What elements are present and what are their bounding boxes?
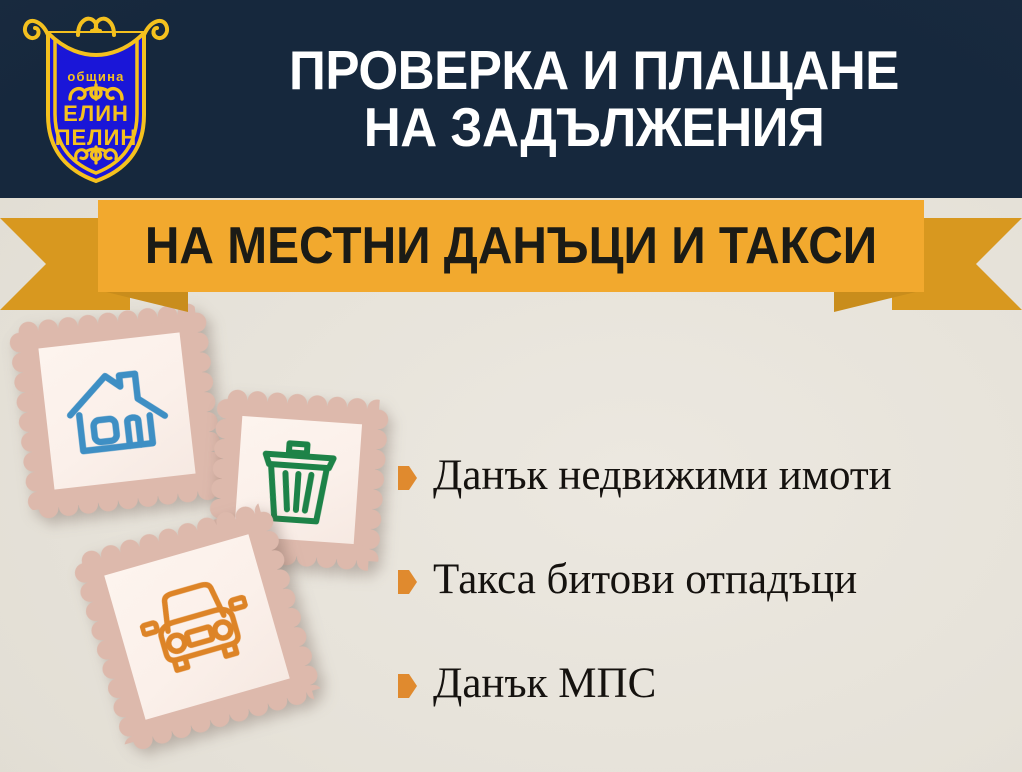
list-item-label: Данък недвижими имоти [433,453,892,498]
coat-of-arms-icon: община ЕЛИН ПЕЛИН [20,11,172,187]
subtitle-ribbon: НА МЕСТНИ ДАНЪЦИ И ТАКСИ [0,198,1022,316]
list-item[interactable]: Данък МПС [398,632,1010,736]
poster-canvas: община ЕЛИН ПЕЛИН [0,0,1022,772]
arrow-bullet-icon [398,466,417,490]
list-item-label: Такса битови отпадъци [433,557,857,602]
list-item-label: Данък МПС [433,661,656,706]
stamp-face-property [38,332,195,489]
header-bar: община ЕЛИН ПЕЛИН [0,0,1022,198]
header-title: ПРОВЕРКА И ПЛАЩАНЕ НА ЗАДЪЛЖЕНИЯ [192,42,1022,155]
title-line-2: НА ЗАДЪЛЖЕНИЯ [220,99,968,156]
obligations-list: Данък недвижими имоти Такса битови отпад… [398,424,1010,736]
arrow-bullet-icon [398,674,417,698]
arrow-bullet-icon [398,570,417,594]
stamp-card-property [18,312,215,509]
car-front-icon [132,570,262,685]
trash-bin-icon [253,431,343,529]
logo-community-text: община [67,69,124,84]
title-line-1: ПРОВЕРКА И ПЛАЩАНЕ [220,42,968,99]
stamp-face-vehicle [104,534,290,720]
list-item[interactable]: Такса битови отпадъци [398,528,1010,632]
list-item[interactable]: Данък недвижими имоти [398,424,1010,528]
ribbon-banner: НА МЕСТНИ ДАНЪЦИ И ТАКСИ [98,200,924,292]
municipality-logo: община ЕЛИН ПЕЛИН [0,0,192,198]
ribbon-text: НА МЕСТНИ ДАНЪЦИ И ТАКСИ [145,220,877,272]
house-icon [60,357,174,464]
logo-line1-text: ЕЛИН [63,101,129,126]
